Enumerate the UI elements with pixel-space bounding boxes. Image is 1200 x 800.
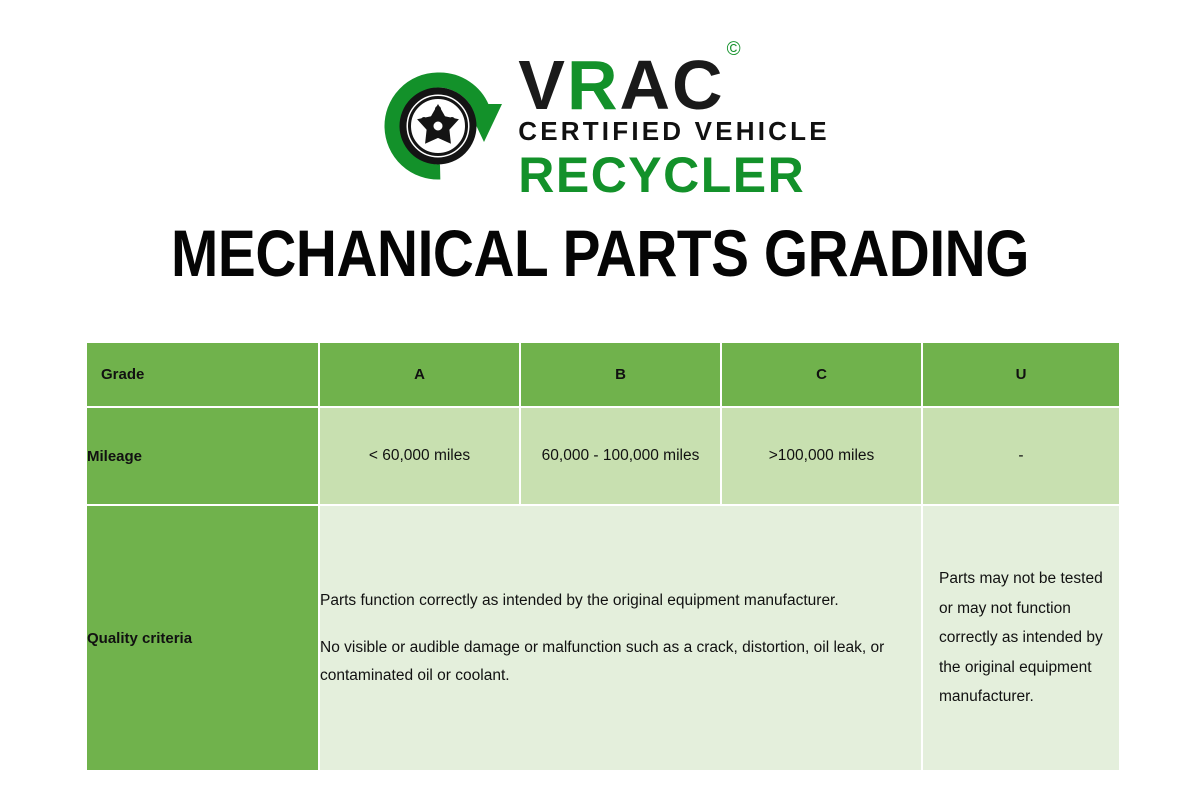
header-grade: Grade [87,343,318,406]
logo-wordmark: VRAC© CERTIFIED VEHICLE RECYCLER [518,48,830,202]
mechanical-parts-grading-table: Grade A B C U Mileage < 60,000 miles 60,… [85,341,1121,772]
brand-logo: VRAC© CERTIFIED VEHICLE RECYCLER [0,48,1200,198]
header-grade-c: C [722,343,921,406]
table-header-row: Grade A B C U [87,343,1119,406]
mileage-grade-u: - [923,408,1119,504]
logo-recycler-word: RECYCLER [518,149,805,202]
logo-inner: VRAC© CERTIFIED VEHICLE RECYCLER [370,48,830,202]
row-label-mileage: Mileage [87,408,318,504]
header-grade-u: U [923,343,1119,406]
table-row-mileage: Mileage < 60,000 miles 60,000 - 100,000 … [87,408,1119,504]
logo-brand-v: V [518,46,567,124]
table-row-quality-criteria: Quality criteria Parts function correctl… [87,506,1119,770]
recycling-wheel-logo-icon [370,56,510,196]
logo-brand-name: VRAC© [518,52,740,119]
quality-criteria-paragraph-1: Parts function correctly as intended by … [320,587,921,615]
mileage-grade-b: 60,000 - 100,000 miles [521,408,720,504]
header-grade-b: B [521,343,720,406]
row-label-quality-criteria: Quality criteria [87,506,318,770]
page-title: MECHANICAL PARTS GRADING [84,215,1116,291]
copyright-icon: © [727,39,743,60]
logo-brand-r: R [567,46,620,124]
quality-criteria-paragraph-2: No visible or audible damage or malfunct… [320,634,921,689]
quality-criteria-grade-u: Parts may not be tested or may not funct… [923,506,1119,770]
mileage-grade-a: < 60,000 miles [320,408,519,504]
header-grade-a: A [320,343,519,406]
logo-brand-ac: AC [620,46,725,124]
quality-criteria-grades-abc: Parts function correctly as intended by … [320,506,921,770]
mileage-grade-c: >100,000 miles [722,408,921,504]
